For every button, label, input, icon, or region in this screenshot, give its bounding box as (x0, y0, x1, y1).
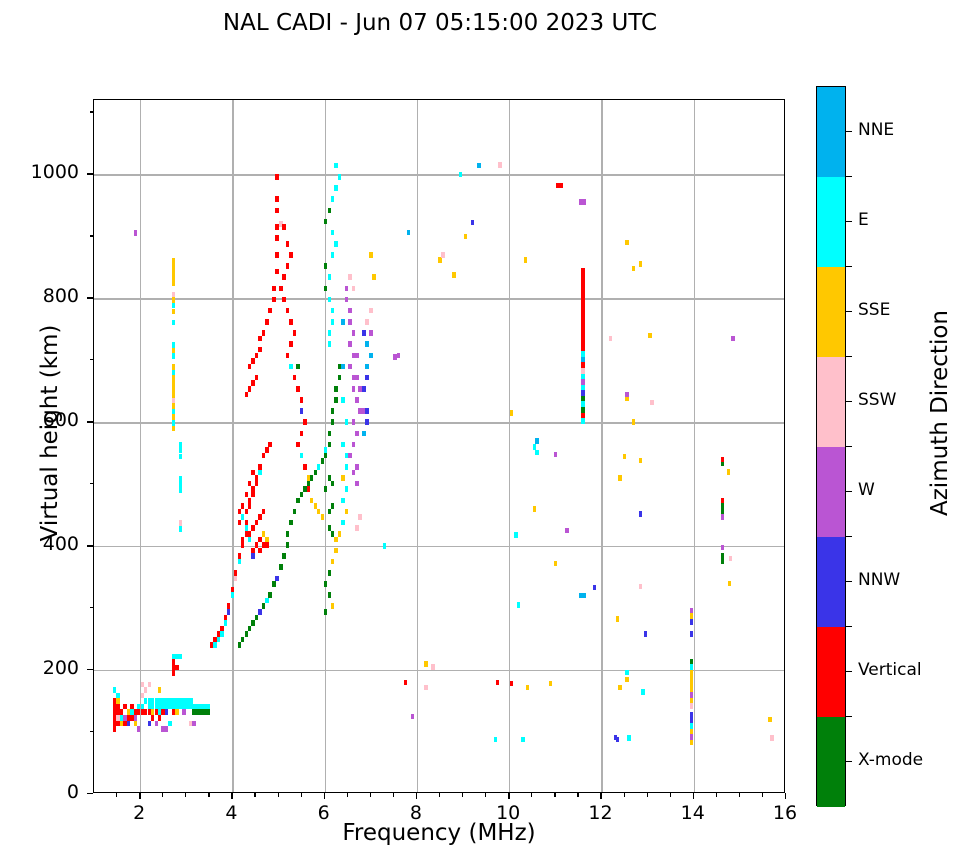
data-point (300, 453, 303, 459)
data-point (251, 620, 254, 626)
data-point (355, 431, 358, 437)
colorbar-segment-ssw (817, 357, 845, 447)
x-minor-tick (278, 793, 279, 797)
colorbar-title: Azimuth Direction (927, 263, 953, 563)
x-minor-tick (254, 793, 255, 797)
data-point (352, 386, 355, 392)
data-point (641, 689, 644, 695)
data-point (632, 266, 635, 272)
data-point (227, 609, 230, 615)
data-point (345, 297, 348, 303)
y-tick (87, 669, 93, 670)
x-minor-tick (762, 793, 763, 797)
data-point (616, 616, 619, 622)
data-point (251, 492, 254, 498)
colorbar-label-vertical: Vertical (858, 660, 922, 680)
data-point (289, 364, 292, 370)
colorbar-label-ssw: SSW (858, 390, 896, 410)
data-point (279, 564, 282, 570)
data-point (248, 537, 251, 543)
data-point (286, 531, 289, 537)
colorbar-tick (846, 311, 852, 312)
data-point (369, 308, 372, 314)
data-point (365, 341, 368, 347)
x-minor-tick (439, 793, 440, 797)
data-point (582, 199, 585, 205)
data-point (639, 261, 642, 267)
scatter-canvas (94, 100, 784, 792)
data-point (644, 631, 647, 637)
y-minor-tick (90, 607, 94, 608)
data-point (358, 514, 361, 520)
colorbar-segment-sse (817, 267, 845, 357)
data-point (282, 224, 285, 230)
data-point (341, 364, 344, 370)
data-point (352, 470, 355, 476)
data-point (341, 319, 344, 325)
data-point (217, 637, 220, 643)
data-point (618, 475, 621, 481)
data-point (345, 453, 348, 459)
data-point (172, 426, 175, 432)
colorbar-segment-e (817, 177, 845, 267)
data-point (300, 408, 303, 414)
gridline-horizontal (94, 422, 784, 423)
colorbar-boundary-tick (846, 446, 852, 447)
data-point (241, 503, 244, 509)
data-point (727, 469, 730, 475)
data-point (345, 286, 348, 292)
x-axis-title: Frequency (MHz) (93, 820, 785, 846)
colorbar-tick (846, 761, 852, 762)
colorbar-boundary-tick (846, 626, 852, 627)
data-point (582, 593, 585, 599)
data-point (324, 286, 327, 292)
data-point (258, 347, 261, 353)
data-point (690, 619, 693, 625)
data-point (262, 453, 265, 459)
data-point (303, 486, 306, 492)
data-point (345, 419, 348, 425)
x-minor-tick (162, 793, 163, 797)
data-point (317, 464, 320, 470)
x-minor-tick (301, 793, 302, 797)
colorbar (816, 86, 846, 806)
data-point (286, 542, 289, 548)
data-point (179, 454, 182, 460)
y-tick (87, 421, 93, 422)
data-point (303, 464, 306, 470)
data-point (348, 341, 351, 347)
y-minor-tick (90, 483, 94, 484)
data-point (245, 631, 248, 637)
data-point (411, 714, 414, 720)
x-minor-tick (393, 793, 394, 797)
data-point (352, 419, 355, 425)
data-point (144, 687, 147, 693)
data-point (352, 286, 355, 292)
data-point (452, 272, 455, 278)
data-point (251, 525, 254, 531)
data-point (355, 397, 358, 403)
data-point (348, 308, 351, 314)
data-point (289, 252, 292, 258)
data-point (272, 297, 275, 303)
data-point (690, 631, 693, 637)
data-point (404, 680, 407, 686)
data-point (341, 397, 344, 403)
x-minor-tick (462, 793, 463, 797)
data-point (272, 286, 275, 292)
x-tick (785, 793, 786, 799)
data-point (331, 603, 334, 609)
data-point (175, 709, 178, 715)
data-point (328, 208, 331, 214)
data-point (331, 308, 334, 314)
data-point (113, 687, 116, 693)
data-point (113, 726, 116, 732)
data-point (328, 274, 331, 280)
data-point (690, 740, 693, 746)
data-point (355, 464, 358, 470)
data-point (262, 509, 265, 515)
data-point (494, 737, 497, 743)
data-point (148, 721, 151, 727)
data-point (365, 319, 368, 325)
x-minor-tick (624, 793, 625, 797)
data-point (238, 520, 241, 526)
data-point (248, 626, 251, 632)
data-point (303, 419, 306, 425)
data-point (255, 375, 258, 381)
data-point (258, 514, 261, 520)
data-point (514, 532, 517, 538)
data-point (300, 431, 303, 437)
data-point (510, 410, 513, 416)
data-point (517, 602, 520, 608)
data-point (328, 341, 331, 347)
y-tick (87, 173, 93, 174)
data-point (535, 438, 538, 444)
data-point (331, 196, 334, 202)
data-point (441, 252, 444, 258)
x-minor-tick (185, 793, 186, 797)
data-point (616, 737, 619, 743)
data-point (275, 235, 278, 241)
data-point (341, 520, 344, 526)
x-minor-tick (670, 793, 671, 797)
data-point (471, 220, 474, 226)
data-point (383, 543, 386, 549)
data-point (331, 559, 334, 565)
colorbar-label-sse: SSE (858, 300, 890, 320)
colorbar-boundary-tick (846, 716, 852, 717)
data-point (282, 553, 285, 559)
data-point (623, 454, 626, 460)
data-point (369, 353, 372, 359)
x-tick (231, 793, 232, 799)
data-point (289, 341, 292, 347)
data-point (328, 330, 331, 336)
y-tick (87, 793, 93, 794)
gridline-vertical (694, 100, 695, 792)
data-point (331, 230, 334, 236)
data-point (324, 609, 327, 615)
data-point (148, 682, 151, 688)
data-point (341, 442, 344, 448)
data-point (355, 353, 358, 359)
data-point (355, 525, 358, 531)
data-point (721, 545, 724, 551)
data-point (438, 257, 441, 263)
data-point (334, 163, 337, 169)
data-point (172, 670, 175, 676)
y-tick-label: 1000 (9, 161, 79, 183)
data-point (625, 670, 628, 676)
data-point (625, 677, 628, 683)
data-point (639, 458, 642, 464)
data-point (477, 163, 480, 169)
data-point (255, 520, 258, 526)
data-point (338, 375, 341, 381)
data-point (424, 685, 427, 691)
data-point (275, 269, 278, 275)
data-point (424, 661, 427, 667)
data-point (234, 576, 237, 582)
gridline-horizontal (94, 670, 784, 671)
x-tick (508, 793, 509, 799)
data-point (275, 174, 278, 180)
data-point (241, 637, 244, 643)
x-minor-tick (739, 793, 740, 797)
data-point (300, 492, 303, 498)
data-point (307, 481, 310, 487)
colorbar-label-nne: NNE (858, 120, 894, 140)
data-point (248, 503, 251, 509)
data-point (293, 375, 296, 381)
data-point (535, 450, 538, 456)
y-minor-tick (90, 731, 94, 732)
y-minor-tick (90, 235, 94, 236)
x-minor-tick (485, 793, 486, 797)
data-point (331, 252, 334, 258)
colorbar-boundary-tick (846, 176, 852, 177)
data-point (192, 721, 195, 727)
data-point (245, 392, 248, 398)
data-point (293, 330, 296, 336)
data-point (168, 721, 171, 727)
data-point (238, 642, 241, 648)
data-point (296, 442, 299, 448)
gridline-vertical (232, 100, 233, 792)
data-point (175, 665, 178, 671)
colorbar-label-x-mode: X-mode (858, 750, 923, 770)
data-point (324, 486, 327, 492)
data-point (334, 386, 337, 392)
data-point (334, 185, 337, 191)
data-point (251, 358, 254, 364)
data-point (255, 615, 258, 621)
x-minor-tick (647, 793, 648, 797)
data-point (431, 664, 434, 670)
data-point (251, 470, 254, 476)
gridline-horizontal (94, 174, 784, 175)
data-point (352, 442, 355, 448)
colorbar-label-nnw: NNW (858, 570, 900, 590)
data-point (565, 528, 568, 534)
data-point (524, 257, 527, 263)
data-point (272, 581, 275, 587)
colorbar-boundary-tick (846, 536, 852, 537)
data-point (251, 380, 254, 386)
data-point (770, 735, 773, 741)
data-point (275, 196, 278, 202)
y-tick-label: 200 (9, 657, 79, 679)
data-point (324, 263, 327, 269)
data-point (245, 509, 248, 515)
data-point (521, 737, 524, 743)
x-tick (324, 793, 325, 799)
data-point (286, 241, 289, 247)
gridline-vertical (417, 100, 418, 792)
data-point (258, 470, 261, 476)
data-point (348, 364, 351, 370)
data-point (365, 375, 368, 381)
data-point (286, 308, 289, 314)
data-point (321, 514, 324, 520)
data-point (213, 642, 216, 648)
data-point (289, 520, 292, 526)
data-point (690, 703, 693, 709)
gridline-horizontal (94, 298, 784, 299)
data-point (241, 514, 244, 520)
x-minor-tick (116, 793, 117, 797)
data-point (328, 431, 331, 437)
data-point (650, 400, 653, 406)
data-point (179, 526, 182, 532)
data-point (369, 330, 372, 336)
data-point (331, 481, 334, 487)
y-minor-tick (90, 111, 94, 112)
data-point (158, 715, 161, 721)
data-point (310, 475, 313, 481)
data-point (172, 320, 175, 326)
x-tick (693, 793, 694, 799)
data-point (275, 576, 278, 582)
data-point (258, 336, 261, 342)
x-minor-tick (208, 793, 209, 797)
data-point (248, 364, 251, 370)
data-point (334, 397, 337, 403)
data-point (251, 553, 254, 559)
colorbar-boundary-tick (846, 356, 852, 357)
data-point (265, 447, 268, 453)
y-tick-label: 0 (9, 781, 79, 803)
data-point (372, 274, 375, 280)
data-point (397, 353, 400, 359)
data-point (241, 542, 244, 548)
data-point (275, 252, 278, 258)
data-point (348, 319, 351, 325)
data-point (172, 309, 175, 315)
data-point (721, 457, 724, 463)
data-point (338, 531, 341, 537)
data-point (265, 319, 268, 325)
data-point (248, 481, 251, 487)
data-point (334, 548, 337, 554)
data-point (721, 558, 724, 564)
data-point (459, 172, 462, 178)
data-point (134, 230, 137, 236)
data-point (690, 659, 693, 665)
data-point (286, 353, 289, 359)
data-point (307, 486, 310, 492)
data-point (289, 319, 292, 325)
data-point (348, 274, 351, 280)
data-point (296, 498, 299, 504)
data-point (220, 631, 223, 637)
data-point (554, 561, 557, 567)
gridline-vertical (509, 100, 510, 792)
data-point (141, 682, 144, 688)
data-point (496, 680, 499, 686)
y-tick (87, 297, 93, 298)
data-point (464, 234, 467, 240)
data-point (348, 453, 351, 459)
data-point (362, 386, 365, 392)
data-point (731, 336, 734, 342)
data-point (127, 721, 130, 727)
x-minor-tick (531, 793, 532, 797)
data-point (262, 603, 265, 609)
data-point (179, 487, 182, 493)
data-point (328, 297, 331, 303)
colorbar-tick (846, 581, 852, 582)
data-point (231, 592, 234, 598)
colorbar-segment-w (817, 447, 845, 537)
colorbar-tick (846, 671, 852, 672)
data-point (255, 481, 258, 487)
data-point (365, 419, 368, 425)
data-point (362, 431, 365, 437)
data-point (549, 681, 552, 687)
x-minor-tick (347, 793, 348, 797)
x-tick (600, 793, 601, 799)
data-point (581, 418, 584, 424)
data-point (165, 726, 168, 732)
data-point (498, 162, 501, 168)
data-point (282, 274, 285, 280)
data-point (338, 174, 341, 180)
data-point (165, 709, 168, 715)
data-point (393, 354, 396, 360)
data-point (206, 709, 209, 715)
data-point (625, 392, 628, 398)
data-point (341, 475, 344, 481)
data-point (300, 397, 303, 403)
colorbar-segment-vertical (817, 627, 845, 717)
colorbar-segment-x-mode (817, 717, 845, 807)
data-point (314, 470, 317, 476)
data-point (362, 330, 365, 336)
data-point (224, 620, 227, 626)
data-point (268, 442, 271, 448)
gridline-vertical (601, 100, 602, 792)
data-point (258, 609, 261, 615)
data-point (355, 481, 358, 487)
data-point (627, 735, 630, 741)
data-point (728, 581, 731, 587)
